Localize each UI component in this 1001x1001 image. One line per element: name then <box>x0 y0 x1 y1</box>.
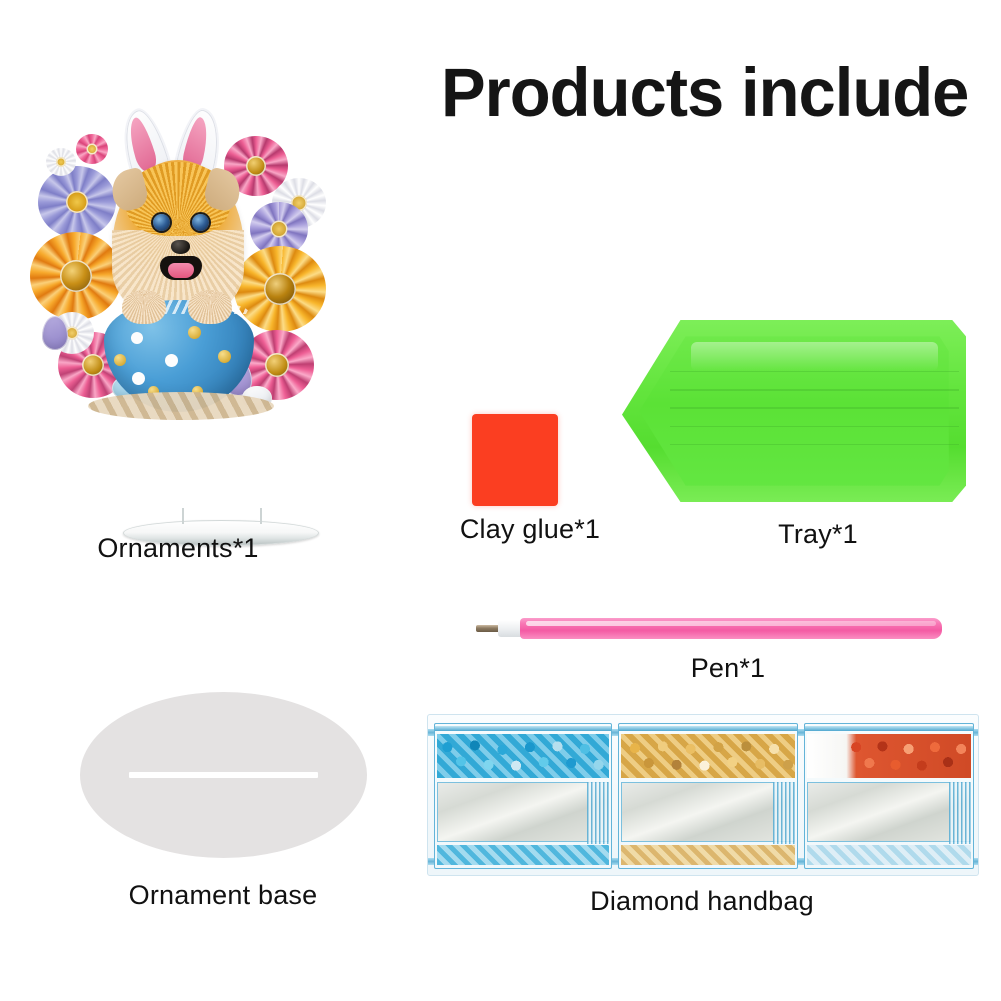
flower-pink-top-left <box>76 134 108 164</box>
tray-groove-4 <box>670 426 959 428</box>
egg-dot-white-1 <box>131 332 143 344</box>
dog-tongue <box>168 263 194 278</box>
clay-glue-caption: Clay glue*1 <box>395 514 665 545</box>
mini-egg-purple-left <box>42 316 68 350</box>
sachet-blue-zip <box>435 726 611 731</box>
flower-orange-left <box>30 232 122 320</box>
flower-yellow-right <box>234 246 326 332</box>
page-title: Products include <box>441 58 984 127</box>
egg-dot-gold-1 <box>114 354 126 366</box>
sachet-gold-foil <box>621 782 795 842</box>
sachet-red-stones-bottom <box>807 845 971 865</box>
sachet-blue-foil <box>437 782 609 842</box>
sachet-gold-ribs <box>773 782 795 844</box>
tray-groove-5 <box>670 444 959 446</box>
clay-glue-product-image <box>472 414 558 506</box>
sachet-red <box>804 723 974 869</box>
egg-dot-white-3 <box>132 372 145 385</box>
dog-paw-right <box>188 290 232 324</box>
tray-groove-1 <box>670 371 959 373</box>
sachet-red-zip <box>805 726 973 731</box>
dog-eye-right <box>192 214 209 231</box>
tray-groove-3 <box>670 407 959 409</box>
sachet-red-stones <box>807 734 971 778</box>
dog-eye-left <box>153 214 170 231</box>
ornament-caption: Ornaments*1 <box>28 533 328 564</box>
sachet-red-foil <box>807 782 971 842</box>
ground-pebbles <box>88 392 274 420</box>
sachet-gold <box>618 723 798 869</box>
ornament-artwork <box>28 104 328 422</box>
dog-nose <box>171 240 190 254</box>
egg-dot-white-2 <box>165 354 178 367</box>
egg-dot-gold-2 <box>188 326 201 339</box>
dog-paw-left <box>122 290 166 324</box>
egg-dot-gold-3 <box>218 350 231 363</box>
stand-tab-left <box>182 508 184 524</box>
tray-product-image <box>622 320 966 502</box>
flower-white-upper-left <box>46 148 76 176</box>
product-contents-infographic: Products include <box>0 0 1001 1001</box>
ornament-base-product-image <box>80 692 367 858</box>
ornament-product-image <box>28 104 328 454</box>
ornament-base-slot <box>129 772 318 778</box>
pen-product-image <box>476 616 942 642</box>
sachet-blue-stones <box>437 734 609 778</box>
tray-highlight <box>691 342 939 371</box>
diamond-handbag-product-image <box>427 714 979 876</box>
sachet-blue-stones-bottom <box>437 845 609 865</box>
sachet-blue-ribs <box>587 782 609 844</box>
sachet-gold-stones-bottom <box>621 845 795 865</box>
sachet-gold-stones <box>621 734 795 778</box>
sachet-blue <box>434 723 612 869</box>
flower-purple-left <box>38 166 116 238</box>
sachet-red-ribs <box>949 782 971 844</box>
pen-highlight <box>526 621 936 626</box>
tray-caption: Tray*1 <box>693 519 943 550</box>
tray-groove-2 <box>670 389 959 391</box>
sachet-gold-zip <box>619 726 797 731</box>
pen-caption: Pen*1 <box>603 653 853 684</box>
ornament-base-caption: Ornament base <box>73 880 373 911</box>
stand-tab-right <box>260 508 262 524</box>
diamond-handbag-caption: Diamond handbag <box>452 886 952 917</box>
